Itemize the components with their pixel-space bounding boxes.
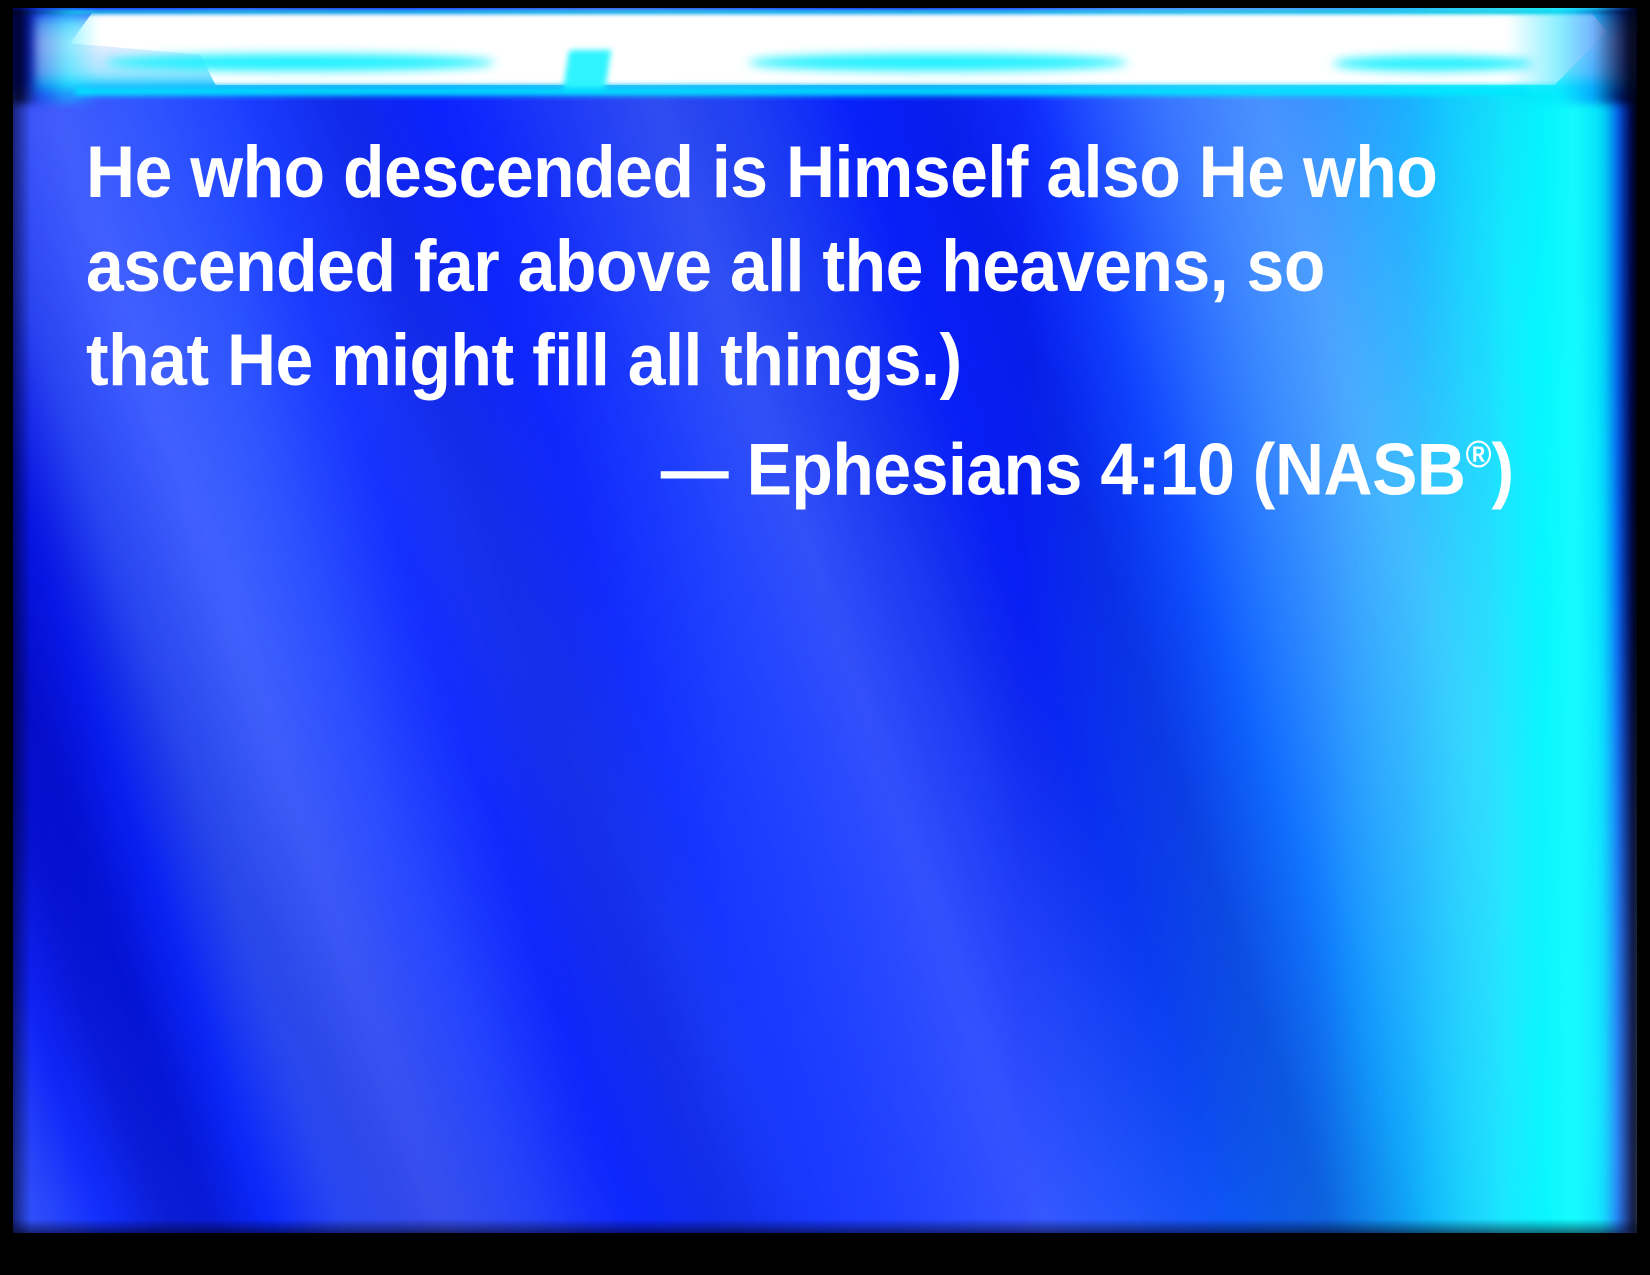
verse-line-2: ascended far above all the heavens, so — [86, 220, 1462, 314]
reference-citation: Ephesians 4:10 — [747, 429, 1235, 510]
top-light-banner — [13, 8, 1637, 104]
banner-top-rule — [13, 10, 1637, 14]
registered-trademark-icon: ® — [1465, 434, 1491, 476]
reference-spacer — [728, 429, 746, 510]
banner-right-fade — [1507, 8, 1637, 104]
verse-text-block: He who descended is Himself also He who … — [86, 126, 1566, 517]
banner-cyan-streak-left — [105, 54, 495, 71]
scripture-slide: He who descended is Himself also He who … — [0, 0, 1650, 1275]
verse-reference-line: — Ephesians 4:10 (NASB®) — [86, 408, 1462, 517]
reference-translation-close: ) — [1491, 429, 1513, 510]
banner-cyan-streak-right — [1333, 56, 1533, 71]
banner-left-fade — [13, 8, 99, 104]
verse-line-3: that He might fill all things.) — [86, 314, 1462, 408]
reference-translation-open: (NASB — [1253, 429, 1466, 510]
banner-cyan-streak-center — [748, 54, 1128, 71]
reference-em-dash: — — [661, 429, 728, 510]
slide-picture-area: He who descended is Himself also He who … — [13, 8, 1637, 1233]
reference-spacer-2 — [1234, 429, 1252, 510]
banner-cyan-underline — [75, 88, 1527, 95]
verse-line-1: He who descended is Himself also He who — [86, 126, 1462, 220]
banner-cyan-notch — [563, 50, 611, 90]
banner-white-core — [61, 13, 1607, 85]
